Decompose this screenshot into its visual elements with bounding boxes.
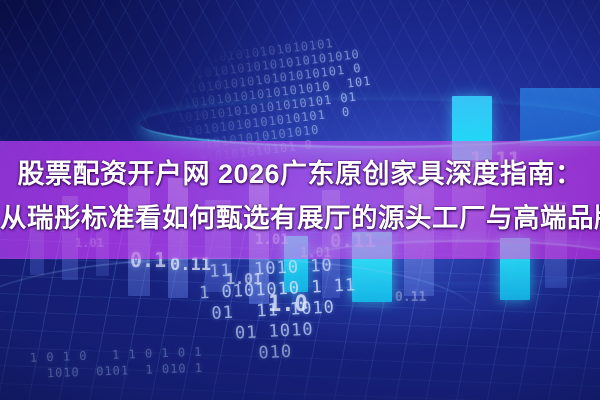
banner-image: 1010101010101010101 10101010101010101010… bbox=[0, 0, 600, 400]
vignette-overlay bbox=[0, 0, 600, 400]
